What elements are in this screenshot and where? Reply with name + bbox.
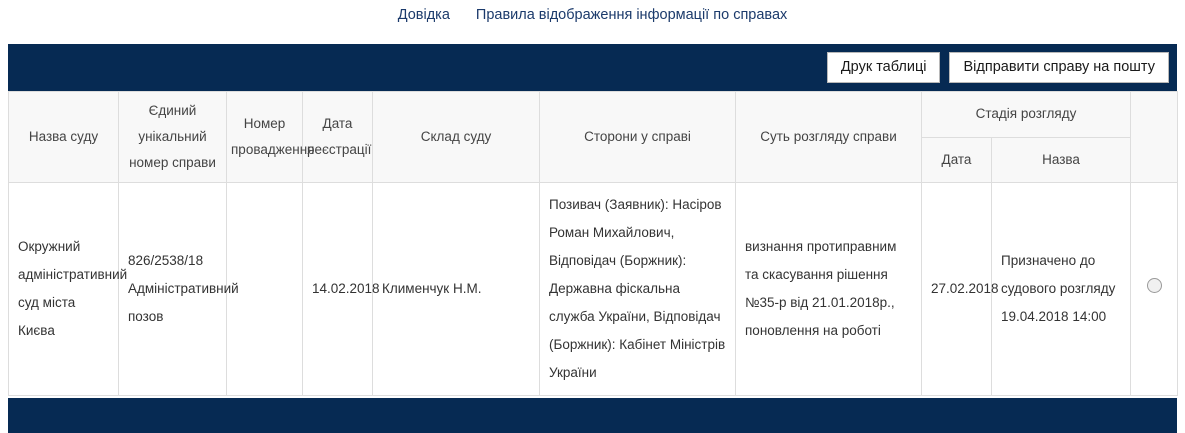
case-results-panel: Друк таблиці Відправити справу на пошту … xyxy=(8,44,1177,433)
display-rules-link[interactable]: Правила відображення інформації по справ… xyxy=(476,7,787,23)
cell-registration-date: 14.02.2018 xyxy=(303,183,373,396)
header-row-primary: Назва суду Єдиний унікальний номер справ… xyxy=(9,92,1178,138)
cell-select[interactable] xyxy=(1131,183,1178,396)
cases-table-body: Окружний адміністративний суд міста Києв… xyxy=(9,183,1178,396)
header-unique-number: Єдиний унікальний номер справи xyxy=(119,92,227,183)
case-type: Адміністративний позов xyxy=(128,275,217,331)
help-link[interactable]: Довідка xyxy=(398,7,450,23)
header-stage-date: Дата xyxy=(922,137,992,183)
cell-essence: визнання протиправним та скасування ріше… xyxy=(736,183,922,396)
cases-table: Назва суду Єдиний унікальний номер справ… xyxy=(8,91,1178,396)
header-court-name: Назва суду xyxy=(9,92,119,183)
top-links-bar: Довідка Правила відображення інформації … xyxy=(0,0,1185,30)
header-essence: Суть розгляду справи xyxy=(736,92,922,183)
header-registration-date: Дата реєстрації xyxy=(303,92,373,183)
cell-court-name: Окружний адміністративний суд міста Києв… xyxy=(9,183,119,396)
cell-unique-number: 826/2538/18 Адміністративний позов xyxy=(119,183,227,396)
print-table-button[interactable]: Друк таблиці xyxy=(827,52,941,83)
send-case-to-email-button[interactable]: Відправити справу на пошту xyxy=(949,52,1169,83)
header-court-composition: Склад суду xyxy=(373,92,540,183)
select-case-radio[interactable] xyxy=(1147,278,1162,293)
cell-stage-date: 27.02.2018 xyxy=(922,183,992,396)
table-row[interactable]: Окружний адміністративний суд міста Києв… xyxy=(9,183,1178,396)
header-stage-group: Стадія розгляду xyxy=(922,92,1131,138)
header-select xyxy=(1131,92,1178,183)
header-parties: Сторони у справі xyxy=(540,92,736,183)
table-footer-bar xyxy=(8,398,1177,433)
table-toolbar: Друк таблиці Відправити справу на пошту xyxy=(8,44,1177,91)
header-proceeding-number: Номер провадження xyxy=(227,92,303,183)
cell-stage-name: Призначено до судового розгляду 19.04.20… xyxy=(992,183,1131,396)
cases-table-head: Назва суду Єдиний унікальний номер справ… xyxy=(9,92,1178,183)
cell-court-composition: Клименчук Н.М. xyxy=(373,183,540,396)
header-stage-name: Назва xyxy=(992,137,1131,183)
case-unique-number: 826/2538/18 xyxy=(128,247,217,275)
cell-parties: Позивач (Заявник): Насіров Роман Михайло… xyxy=(540,183,736,396)
